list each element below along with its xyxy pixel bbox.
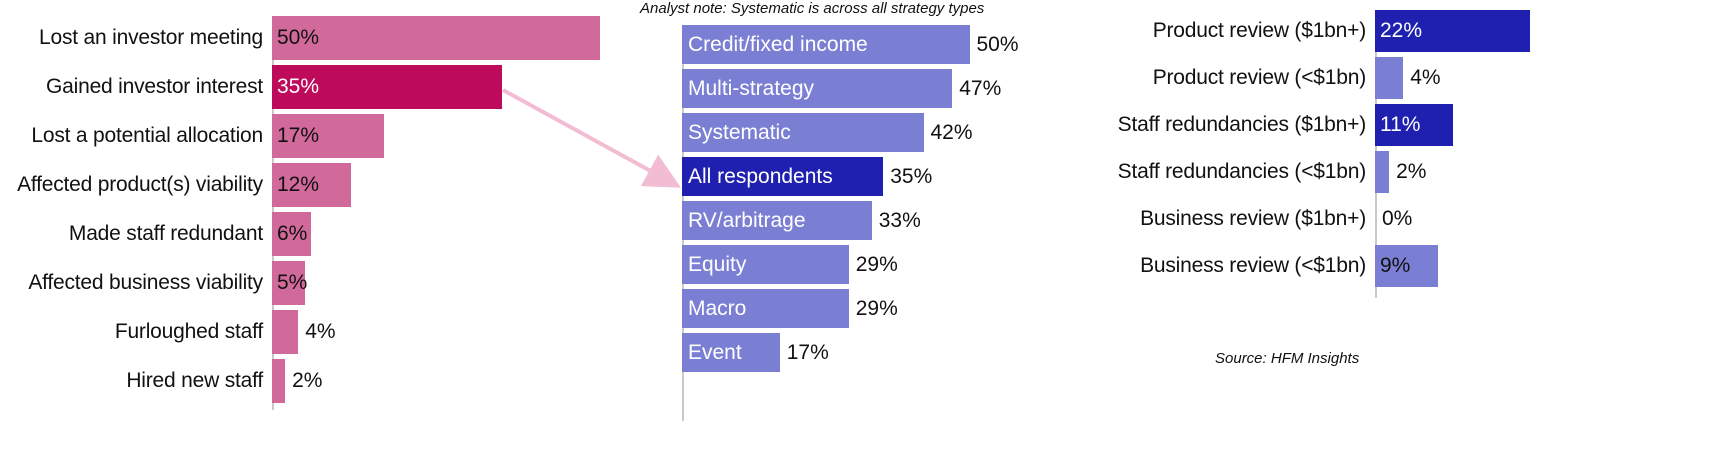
bar-track: 0% — [1375, 198, 1724, 240]
bar-track: Event17% — [682, 333, 1110, 372]
bar-category-label: Lost an investor meeting — [0, 26, 272, 50]
source-note: Source: HFM Insights — [1215, 350, 1359, 367]
bar — [272, 310, 298, 354]
bar: 11% — [1375, 104, 1453, 146]
bar-track: Equity29% — [682, 245, 1110, 284]
bar: RV/arbitrage — [682, 201, 872, 240]
bar-category-label: Product review (<$1bn) — [1110, 66, 1375, 90]
bar-row: Furloughed staff4% — [0, 310, 640, 354]
bar-track: Credit/fixed income50% — [682, 25, 1110, 64]
bar-track: 11% — [1375, 104, 1724, 146]
bar-value-label: 47% — [952, 77, 1001, 101]
bar-track: 2% — [1375, 151, 1724, 193]
bar-value-label: 5% — [272, 271, 307, 295]
bar: 17% — [272, 114, 384, 158]
bar-category-label: Business review ($1bn+) — [1110, 207, 1375, 231]
bar: All respondents — [682, 157, 883, 196]
bar-category-label: Multi-strategy — [682, 77, 814, 101]
bar-rows-mid: Credit/fixed income50%Multi-strategy47%S… — [682, 25, 1110, 372]
bar-track: 2% — [272, 359, 640, 403]
bar — [272, 359, 285, 403]
bar-category-label: Event — [682, 341, 742, 365]
bar: Equity — [682, 245, 849, 284]
bar-row: Product review (<$1bn)4% — [1110, 57, 1724, 99]
bar: Systematic — [682, 113, 924, 152]
bar-value-label: 9% — [1375, 254, 1410, 278]
bar-value-label: 2% — [1389, 160, 1426, 184]
chart-impact-of-covid: Lost an investor meeting50%Gained invest… — [0, 16, 640, 408]
bar-track: 12% — [272, 163, 640, 207]
bar-category-label: Staff redundancies ($1bn+) — [1110, 113, 1375, 137]
bar-track: 6% — [272, 212, 640, 256]
bar-value-label: 35% — [883, 165, 932, 189]
bar-category-label: Gained investor interest — [0, 75, 272, 99]
bar-category-label: Made staff redundant — [0, 222, 272, 246]
bar-track: Macro29% — [682, 289, 1110, 328]
bar-row: Gained investor interest35% — [0, 65, 640, 109]
bar: 35% — [272, 65, 502, 109]
bar-track: 50% — [272, 16, 640, 60]
bar-category-label: Affected product(s) viability — [0, 173, 272, 197]
bar-row: Affected business viability5% — [0, 261, 640, 305]
bar: Macro — [682, 289, 849, 328]
bar-value-label: 6% — [272, 222, 307, 246]
bar: Multi-strategy — [682, 69, 952, 108]
bar-category-label: RV/arbitrage — [682, 209, 806, 233]
bar-row: All respondents35% — [682, 157, 1110, 196]
bar-track: Systematic42% — [682, 113, 1110, 152]
bar-row: Staff redundancies (<$1bn)2% — [1110, 151, 1724, 193]
bar-row: Business review ($1bn+)0% — [1110, 198, 1724, 240]
bar-value-label: 50% — [272, 26, 319, 50]
bar-value-label: 2% — [285, 369, 322, 393]
bar-track: 5% — [272, 261, 640, 305]
bar-row: Event17% — [682, 333, 1110, 372]
bar-track: 9% — [1375, 245, 1724, 287]
bar-row: Lost an investor meeting50% — [0, 16, 640, 60]
bar-row: Affected product(s) viability12% — [0, 163, 640, 207]
bar: 50% — [272, 16, 600, 60]
bar: 12% — [272, 163, 351, 207]
bar-category-label: All respondents — [682, 165, 833, 189]
chart-actions-by-aum: Product review ($1bn+)22%Product review … — [1110, 10, 1724, 292]
bar-track: All respondents35% — [682, 157, 1110, 196]
bar-category-label: Staff redundancies (<$1bn) — [1110, 160, 1375, 184]
bar-row: Multi-strategy47% — [682, 69, 1110, 108]
bar-value-label: 33% — [872, 209, 921, 233]
bar-row: Made staff redundant6% — [0, 212, 640, 256]
bar-category-label: Systematic — [682, 121, 791, 145]
bar — [1375, 57, 1403, 99]
analyst-note: Analyst note: Systematic is across all s… — [640, 0, 1110, 17]
bar-value-label: 22% — [1375, 19, 1422, 43]
bar: 9% — [1375, 245, 1438, 287]
bar-row: Business review (<$1bn)9% — [1110, 245, 1724, 287]
bar-category-label: Equity — [682, 253, 746, 277]
bar-row: Systematic42% — [682, 113, 1110, 152]
bar-category-label: Business review (<$1bn) — [1110, 254, 1375, 278]
bar-value-label: 35% — [272, 75, 319, 99]
bar-row: RV/arbitrage33% — [682, 201, 1110, 240]
bar-category-label: Affected business viability — [0, 271, 272, 295]
bar-category-label: Credit/fixed income — [682, 33, 868, 57]
bar-track: Multi-strategy47% — [682, 69, 1110, 108]
bar-row: Hired new staff2% — [0, 359, 640, 403]
bar: Event — [682, 333, 780, 372]
bar: 5% — [272, 261, 305, 305]
bar — [1375, 151, 1389, 193]
bar-row: Lost a potential allocation17% — [0, 114, 640, 158]
bar-value-label: 50% — [970, 33, 1019, 57]
bar-track: 35% — [272, 65, 640, 109]
bar-value-label: 42% — [924, 121, 973, 145]
bar-row: Credit/fixed income50% — [682, 25, 1110, 64]
infographic-canvas: Lost an investor meeting50%Gained invest… — [0, 0, 1724, 459]
bar-category-label: Product review ($1bn+) — [1110, 19, 1375, 43]
bar-track: 4% — [272, 310, 640, 354]
bar-category-label: Hired new staff — [0, 369, 272, 393]
bar-value-label: 29% — [849, 253, 898, 277]
chart-gained-investor-interest-by-strategy: Analyst note: Systematic is across all s… — [640, 0, 1110, 377]
bar-track: 4% — [1375, 57, 1724, 99]
bar-rows-right: Product review ($1bn+)22%Product review … — [1110, 10, 1724, 287]
bar-track: 22% — [1375, 10, 1724, 52]
bar-category-label: Lost a potential allocation — [0, 124, 272, 148]
bar-track: RV/arbitrage33% — [682, 201, 1110, 240]
bar-value-label: 17% — [272, 124, 319, 148]
bar-value-label: 17% — [780, 341, 829, 365]
bar-value-label: 29% — [849, 297, 898, 321]
bar-row: Staff redundancies ($1bn+)11% — [1110, 104, 1724, 146]
bar-row: Equity29% — [682, 245, 1110, 284]
bar-value-label: 12% — [272, 173, 319, 197]
bar-value-label: 0% — [1375, 207, 1412, 231]
bar: 6% — [272, 212, 311, 256]
bar-row: Macro29% — [682, 289, 1110, 328]
bar: Credit/fixed income — [682, 25, 970, 64]
bar: 22% — [1375, 10, 1530, 52]
bar-value-label: 4% — [1403, 66, 1440, 90]
bar-row: Product review ($1bn+)22% — [1110, 10, 1724, 52]
bar-track: 17% — [272, 114, 640, 158]
bar-rows-left: Lost an investor meeting50%Gained invest… — [0, 16, 640, 403]
bar-value-label: 11% — [1375, 113, 1420, 137]
bar-category-label: Furloughed staff — [0, 320, 272, 344]
bar-category-label: Macro — [682, 297, 746, 321]
bar-value-label: 4% — [298, 320, 335, 344]
